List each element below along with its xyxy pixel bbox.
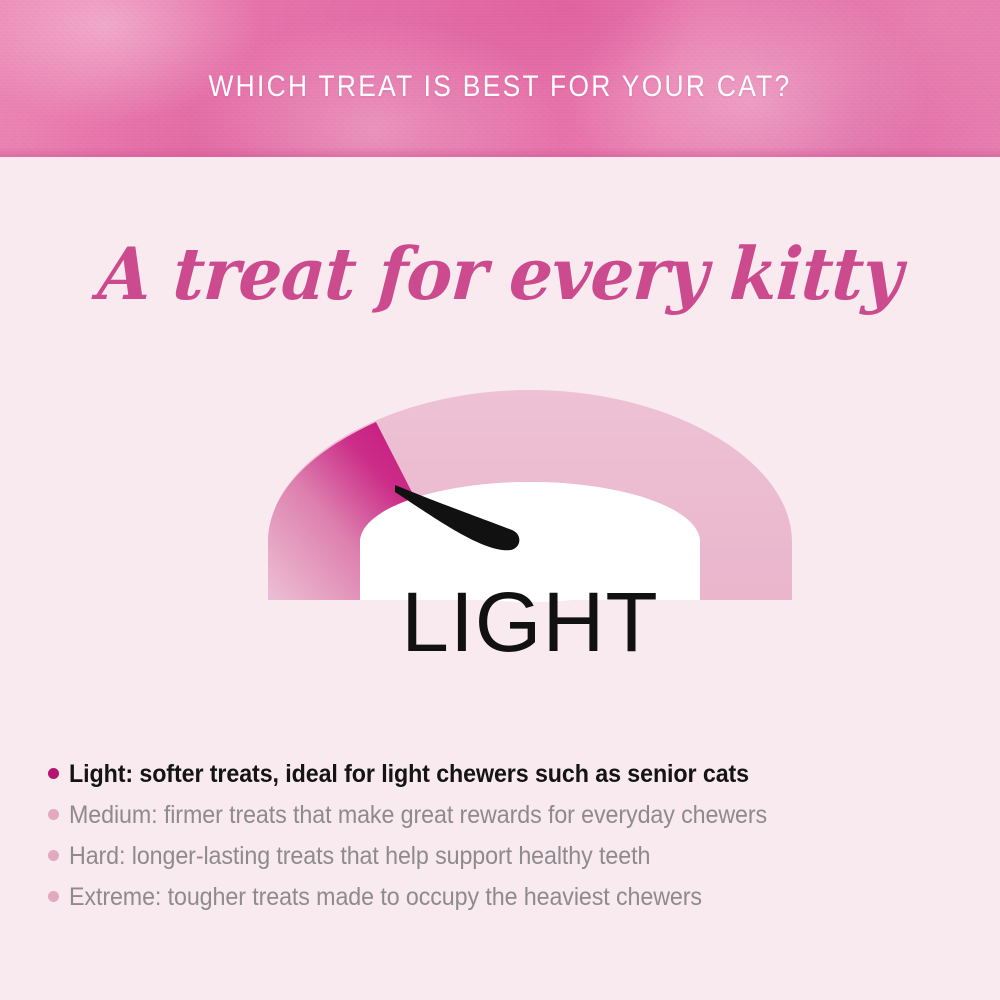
- legend-item-light[interactable]: Light: softer treats, ideal for light ch…: [48, 758, 968, 791]
- header-banner: WHICH TREAT IS BEST FOR YOUR CAT?: [0, 0, 1000, 157]
- legend-item-text: Hard: longer-lasting treats that help su…: [69, 840, 650, 873]
- infographic-canvas: WHICH TREAT IS BEST FOR YOUR CAT? A trea…: [0, 0, 1000, 1000]
- chewing-strength-gauge: LIGHT: [240, 382, 820, 622]
- bullet-dot-icon: [48, 809, 59, 820]
- banner-bottom-edge: [0, 147, 1000, 157]
- bullet-dot-icon: [48, 850, 59, 861]
- page-title: A treat for every kitty: [23, 238, 978, 310]
- bullet-dot-icon: [48, 891, 59, 902]
- legend-item-hard[interactable]: Hard: longer-lasting treats that help su…: [48, 840, 968, 873]
- legend-item-text: Light: softer treats, ideal for light ch…: [69, 758, 749, 791]
- legend-item-medium[interactable]: Medium: firmer treats that make great re…: [48, 799, 968, 832]
- legend-item-extreme[interactable]: Extreme: tougher treats made to occupy t…: [48, 881, 968, 914]
- bullet-dot-icon: [48, 768, 59, 779]
- legend-item-text: Medium: firmer treats that make great re…: [69, 799, 767, 832]
- treat-level-legend: Light: softer treats, ideal for light ch…: [48, 758, 968, 922]
- gauge-value-label: LIGHT: [234, 580, 826, 664]
- header-title: WHICH TREAT IS BEST FOR YOUR CAT?: [60, 72, 940, 102]
- legend-item-text: Extreme: tougher treats made to occupy t…: [69, 881, 702, 914]
